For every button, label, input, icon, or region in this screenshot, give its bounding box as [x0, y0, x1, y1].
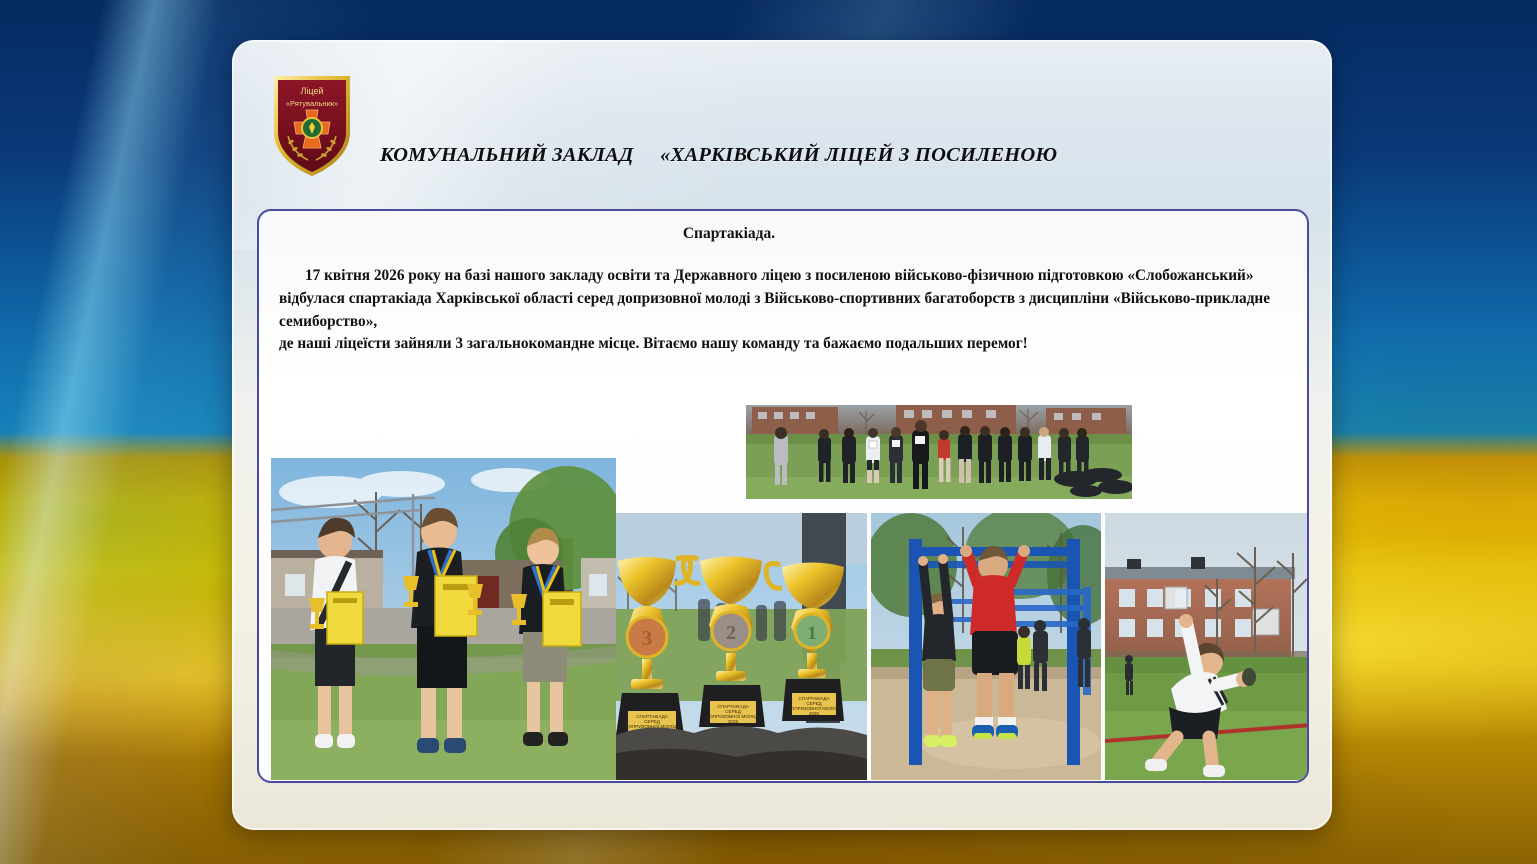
photo-pullups[interactable]	[871, 513, 1101, 780]
page-header: Ліцей «Рятувальник»	[232, 40, 1332, 215]
svg-text:Ліцей: Ліцей	[301, 86, 324, 96]
svg-text:2025: 2025	[728, 719, 739, 724]
svg-text:2025: 2025	[809, 711, 820, 716]
photo-throw[interactable]	[1105, 513, 1309, 780]
photo-gallery: 3 СПАРТАКІАДА СЕРЕД ДОПРИЗОВНОЇ МОЛОДІ 2…	[259, 211, 1307, 781]
institution-title-line-1: КОМУНАЛЬНИЙ ЗАКЛАД «ХАРКІВСЬКИЙ ЛІЦЕЙ З …	[380, 141, 1057, 169]
photo-winners[interactable]	[271, 458, 616, 780]
photo-trophies[interactable]: 3 СПАРТАКІАДА СЕРЕД ДОПРИЗОВНОЇ МОЛОДІ 2…	[616, 513, 867, 780]
photo-lineup[interactable]	[746, 405, 1132, 499]
svg-text:2: 2	[726, 622, 736, 644]
article-container: Спартакіада. 17 квітня 2026 року на базі…	[257, 209, 1309, 783]
svg-text:1: 1	[807, 623, 817, 644]
lyceum-emblem-icon: Ліцей «Рятувальник»	[266, 70, 358, 182]
slide-card: Ліцей «Рятувальник»	[232, 40, 1332, 830]
svg-text:3: 3	[642, 626, 653, 650]
svg-text:«Рятувальник»: «Рятувальник»	[286, 99, 338, 108]
